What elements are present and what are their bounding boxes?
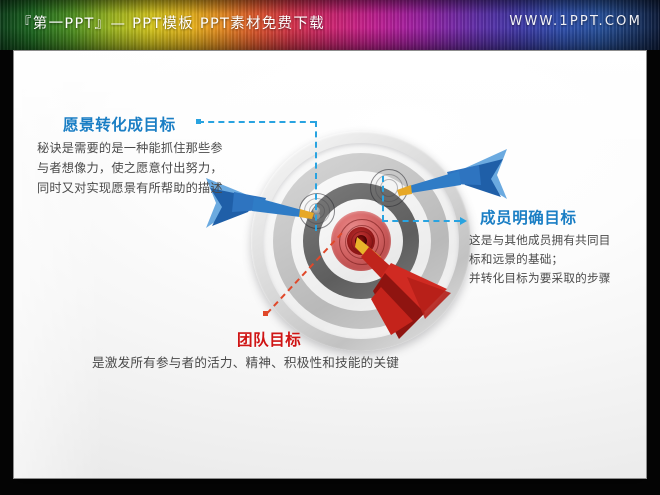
vision-body-line-2: 与者想像力，使之愿意付出努力， — [37, 158, 223, 178]
vision-block-body: 秘诀是需要的是一种能抓住那些参 与者想像力，使之愿意付出努力， 同时又对实现愿景… — [37, 138, 223, 198]
connector-team-dot — [263, 311, 268, 316]
slide-viewer: 『第一PPT』— PPT模板 PPT素材免费下载 WWW.1PPT.COM — [0, 0, 660, 495]
slide-canvas: 愿景转化成目标 秘诀是需要的是一种能抓住那些参 与者想像力，使之愿意付出努力， … — [14, 51, 646, 478]
banner-title: 『第一PPT』— PPT模板 PPT素材免费下载 — [17, 12, 325, 33]
team-block-body: 是激发所有参与者的活力、精神、积极性和技能的关键 — [92, 353, 399, 373]
connector-member-arrow — [460, 217, 467, 225]
site-banner: 『第一PPT』— PPT模板 PPT素材免费下载 WWW.1PPT.COM — [0, 0, 660, 50]
member-body-line-3: 并转化目标为要采取的步骤 — [469, 269, 611, 288]
connector-member-vertical — [382, 176, 384, 221]
member-body-line-1: 这是与其他成员拥有共同目 — [469, 231, 611, 250]
connector-vision-horizontal — [198, 121, 316, 123]
vision-body-line-3: 同时又对实现愿景有所帮助的描述 — [37, 178, 223, 198]
red-dart-bullseye — [351, 229, 471, 349]
dartboard-target-graphic — [251, 131, 471, 351]
vision-body-line-1: 秘诀是需要的是一种能抓住那些参 — [37, 138, 223, 158]
team-block-title: 团队目标 — [237, 328, 301, 350]
member-body-line-2: 标和远景的基础； — [469, 250, 611, 269]
connector-vision-vertical — [315, 121, 317, 231]
member-block-body: 这是与其他成员拥有共同目 标和远景的基础； 并转化目标为要采取的步骤 — [469, 231, 611, 288]
team-body-line-1: 是激发所有参与者的活力、精神、积极性和技能的关键 — [92, 353, 399, 373]
vision-block-title: 愿景转化成目标 — [63, 113, 176, 135]
banner-url[interactable]: WWW.1PPT.COM — [509, 14, 642, 29]
connector-member-horizontal — [382, 220, 460, 222]
member-block-title: 成员明确目标 — [480, 206, 577, 228]
